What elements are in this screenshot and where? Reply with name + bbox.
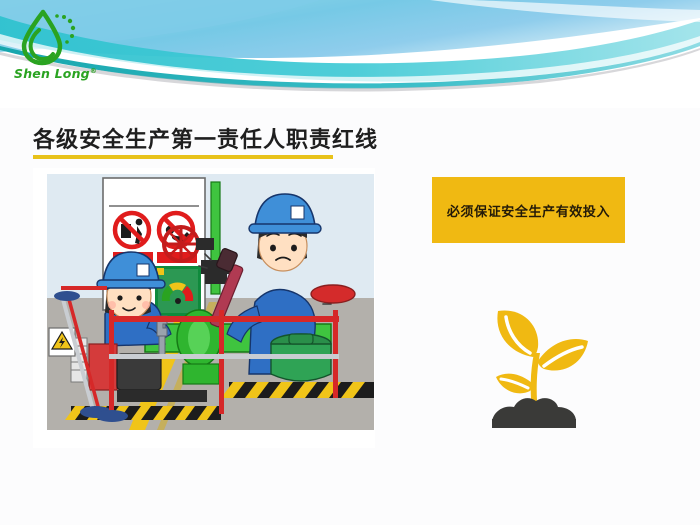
- prohibition-sign-1: [115, 213, 149, 247]
- growing-seedling-graphic: [470, 295, 600, 430]
- logo-brand-text: Shen Long®: [14, 66, 102, 81]
- railing-base: [54, 291, 80, 301]
- page-title: 各级安全生产第一责任人职责红线: [33, 122, 378, 154]
- workplace-safety-illustration: [33, 168, 375, 448]
- decorative-wave-banner: [0, 0, 700, 108]
- gauge-panel: [155, 266, 201, 316]
- red-disc-object: [311, 285, 355, 303]
- slide-canvas: Shen Long® 各级安全生产第一责任人职责红线: [0, 0, 700, 525]
- railing-base: [96, 410, 128, 422]
- callout-text: 必须保证安全生产有效投入: [447, 201, 610, 220]
- title-underline: [33, 155, 333, 159]
- trademark-symbol: ®: [90, 67, 97, 75]
- callout-box: 必须保证安全生产有效投入: [432, 177, 625, 243]
- shen-long-logo: Shen Long®: [10, 8, 102, 86]
